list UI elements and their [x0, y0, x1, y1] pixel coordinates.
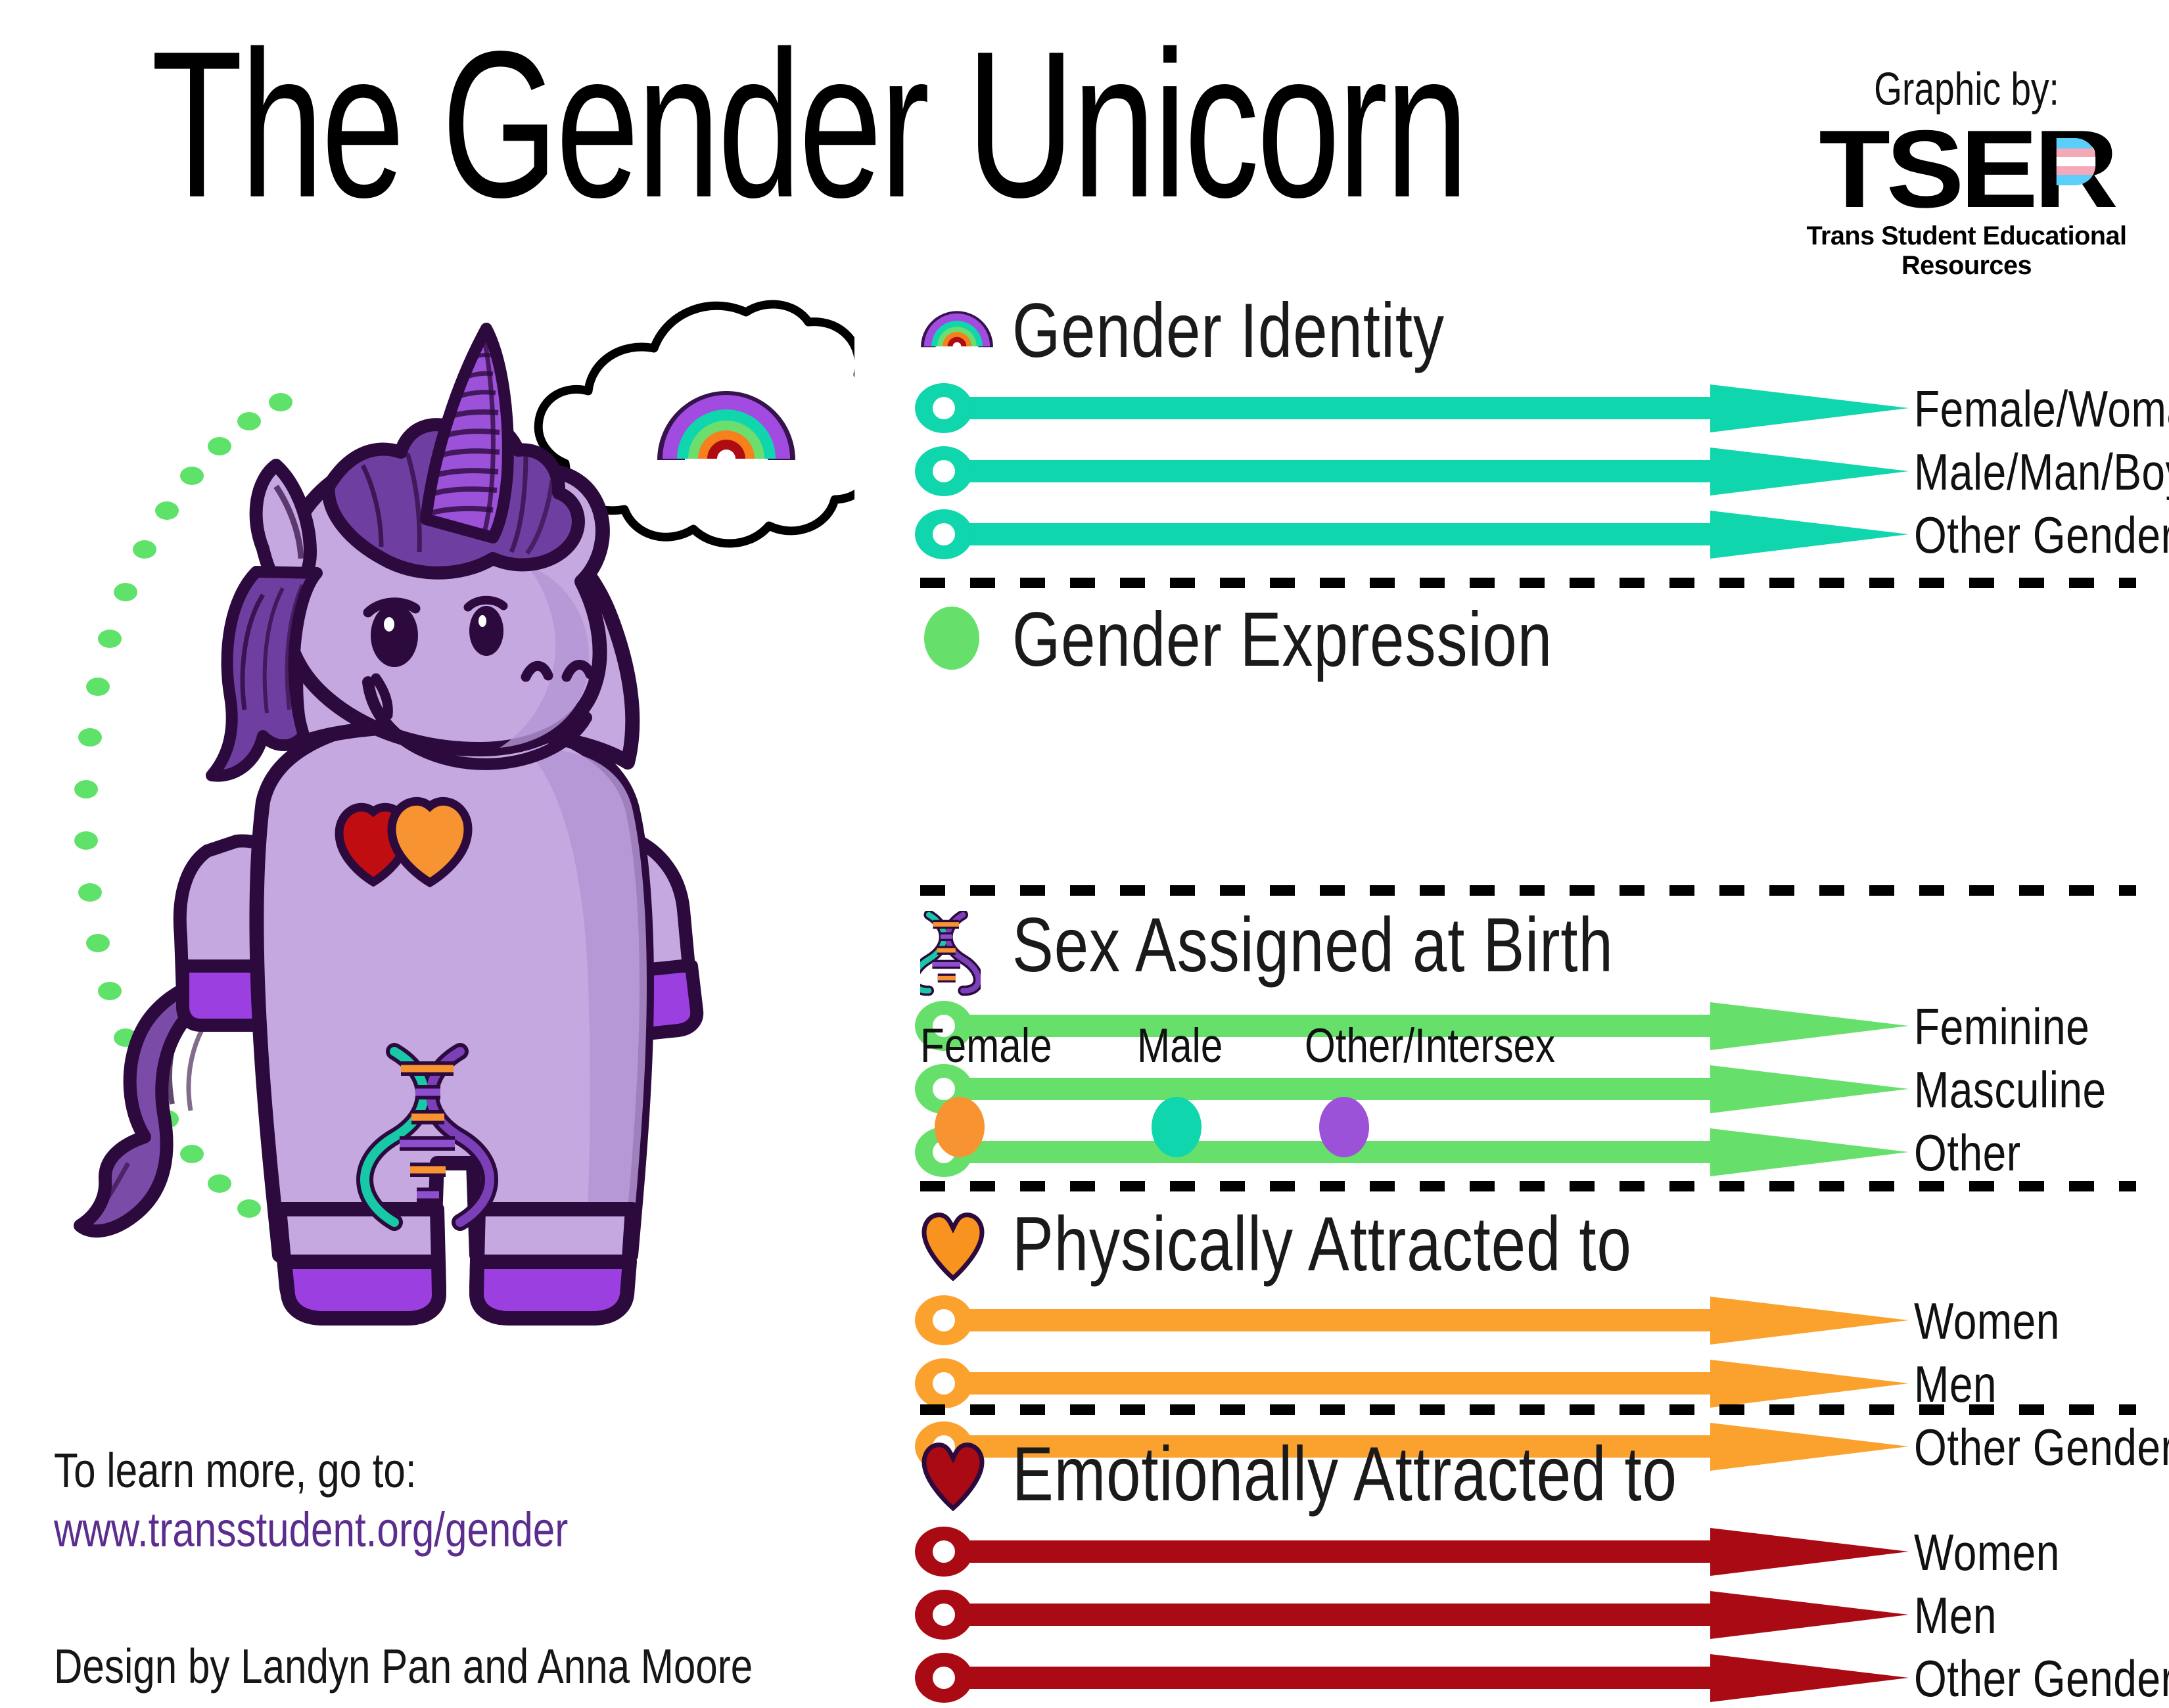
- spectrum-label: Women: [1914, 1523, 2060, 1582]
- spectrum-row: Other Gender(s): [920, 1653, 2143, 1703]
- tser-letter-e: E: [1960, 118, 2034, 220]
- rainbow-icon: [920, 296, 994, 352]
- sex-assigned-at-birth-header: Sex Assigned at Birth: [920, 913, 2143, 992]
- spectrum-arrow: [915, 1590, 1914, 1640]
- spectrum-arrow: [915, 383, 1914, 434]
- physically-attracted-to-title: Physically Attracted to: [1012, 1201, 1632, 1289]
- sex-assigned-at-birth-title: Sex Assigned at Birth: [1012, 902, 1614, 990]
- tser-letter-r-wrap: R: [2034, 118, 2114, 220]
- spectrum-row: Men: [920, 1358, 2143, 1409]
- section-gender-identity: Gender Identity Female/Woman/Girl Male/M…: [920, 299, 2143, 378]
- spectrum-label: Other Gender(s): [1914, 1649, 2169, 1708]
- section-divider: [920, 578, 2136, 588]
- spectrum-arrow: [915, 1295, 1914, 1346]
- gender-identity-header: Gender Identity: [920, 299, 2143, 378]
- orange-heart-icon: [920, 1210, 986, 1281]
- spectrum-arrow: [915, 1358, 1914, 1409]
- spectrum-label: Feminine: [1914, 997, 2089, 1056]
- spectrum-arrow: [915, 1527, 1914, 1577]
- saab-option-label: Other/Intersex: [1305, 1019, 1555, 1074]
- gender-expression-title: Gender Expression: [1012, 596, 1552, 684]
- red-heart-icon: [920, 1440, 986, 1514]
- green-circle-icon: [920, 605, 983, 671]
- orange-heart-icon: [920, 1210, 986, 1284]
- tser-letter-s: S: [1886, 118, 1960, 220]
- spectrum-row: Other Gender(s): [920, 509, 2143, 560]
- page-title: The Gender Unicorn: [151, 20, 1466, 228]
- design-credit-label: Design by Landyn Pan and Anna Moore: [54, 1632, 753, 1703]
- spectrum-arrow: [915, 1653, 1914, 1703]
- saab-option-dot: [1152, 1097, 1201, 1157]
- emotionally-attracted-to-title: Emotionally Attracted to: [1012, 1431, 1677, 1519]
- spectrum-label: Other Gender(s): [1914, 505, 2169, 565]
- saab-option-dot: [935, 1097, 985, 1157]
- physically-attracted-to-header: Physically Attracted to: [920, 1212, 2143, 1291]
- transstudent-url-link[interactable]: www.transstudent.org/gender: [54, 1495, 753, 1566]
- section-gender-expression: Gender Expression Feminine Masculine Oth…: [920, 608, 2143, 687]
- unicorn-horn: [426, 329, 508, 538]
- tser-letter-t: T: [1819, 118, 1886, 220]
- tser-wordmark: T S E R: [1785, 118, 2147, 220]
- footer-block: To learn more, go to: www.transstudent.o…: [54, 1436, 774, 1691]
- section-sex-assigned-at-birth: Sex Assigned at BirthFemaleMaleOther/Int…: [920, 913, 2143, 992]
- red-heart-icon: [920, 1440, 986, 1511]
- gender-identity-title: Gender Identity: [1012, 287, 1445, 375]
- spectrum-label: Men: [1914, 1586, 1997, 1645]
- saab-option-label: Male: [1137, 1019, 1223, 1074]
- tser-logo-block: Graphic by: T S E R Trans Student Educat…: [1796, 62, 2137, 281]
- spectrum-row: Men: [920, 1590, 2143, 1640]
- spectrum-row: Male/Man/Boy: [920, 446, 2143, 497]
- rainbow-icon: [920, 296, 994, 355]
- spectrum-label: Female/Woman/Girl: [1914, 379, 2169, 438]
- spectrum-row: Female/Woman/Girl: [920, 383, 2143, 434]
- saab-option: Female: [920, 1019, 1056, 1157]
- dna-icon: [920, 911, 981, 1000]
- spectrum-label: Women: [1914, 1291, 2060, 1350]
- saab-option: Other/Intersex: [1305, 1019, 1563, 1157]
- spectrum-arrow: [915, 446, 1914, 497]
- section-divider: [920, 1181, 2136, 1191]
- gender-expression-header: Gender Expression: [920, 608, 2143, 687]
- spectrum-label: Male/Man/Boy: [1914, 442, 2169, 501]
- section-divider: [920, 885, 2136, 896]
- section-physically-attracted-to: Physically Attracted to Women Men Other …: [920, 1212, 2143, 1291]
- spectrum-row: Women: [920, 1527, 2143, 1577]
- green-circle-icon: [920, 605, 983, 674]
- spectrum-label: Masculine: [1914, 1060, 2107, 1119]
- trans-flag-icon: [2056, 138, 2095, 185]
- saab-option: Male: [1137, 1019, 1225, 1157]
- tser-subtitle: Trans Student Educational Resources: [1798, 221, 2136, 281]
- emotionally-attracted-to-header: Emotionally Attracted to: [920, 1443, 2143, 1521]
- saab-option-dot: [1319, 1097, 1369, 1157]
- dna-icon: [920, 911, 981, 996]
- spectrum-row: Women: [920, 1295, 2143, 1346]
- spectrum-arrow: [915, 509, 1914, 560]
- gender-unicorn-character: [66, 289, 854, 1393]
- spectrum-label: Other: [1914, 1123, 2021, 1182]
- section-emotionally-attracted-to: Emotionally Attracted to Women Men Other…: [920, 1443, 2143, 1521]
- section-divider: [920, 1404, 2136, 1415]
- saab-option-label: Female: [920, 1019, 1052, 1074]
